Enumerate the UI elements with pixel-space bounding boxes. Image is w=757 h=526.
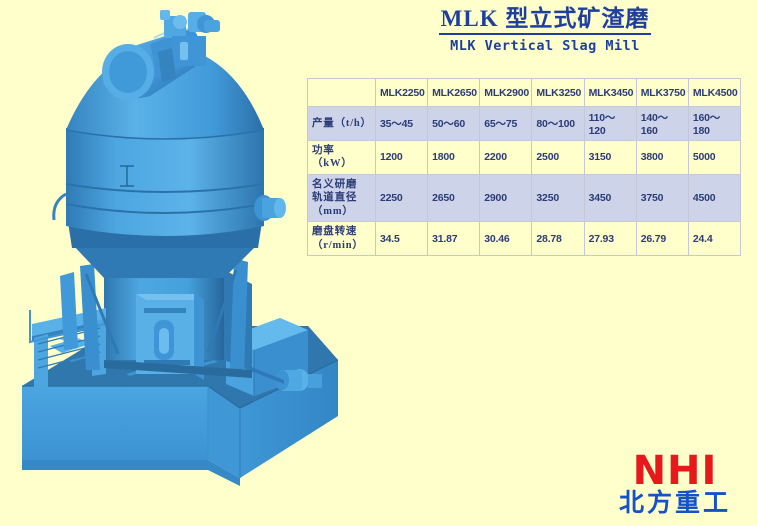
row-label-line1: 名义研磨 [312, 179, 357, 190]
capacity-mlk3450: 110～120 [584, 107, 636, 141]
table-corner-cell [308, 79, 376, 107]
model-header-mlk3250: MLK3250 [532, 79, 584, 107]
title-block: MLK 型立式矿渣磨 MLK Vertical Slag Mill [395, 6, 695, 54]
power-mlk2900: 2200 [480, 141, 532, 175]
capacity-mlk3750: 140～160 [636, 107, 688, 141]
table-row-grinding-track-diameter: 名义研磨 轨道直径 （mm） 2250 2650 2900 3250 3450 … [308, 174, 741, 221]
page-title-english: MLK Vertical Slag Mill [395, 38, 695, 54]
power-mlk3750: 3800 [636, 141, 688, 175]
logo-acronym: NHI [600, 452, 750, 490]
table-header-row: MLK2250 MLK2650 MLK2900 MLK3250 MLK3450 … [308, 79, 741, 107]
capacity-mlk2250: 35～45 [376, 107, 428, 141]
speed-mlk2900: 30.46 [480, 222, 532, 256]
diameter-mlk3450: 3450 [584, 174, 636, 221]
row-label-line2: 轨道直径 [312, 192, 357, 203]
row-label-power: 功率 （kW） [308, 141, 376, 175]
diameter-mlk2650: 2650 [428, 174, 480, 221]
speed-mlk4500: 24.4 [688, 222, 740, 256]
diameter-mlk3250: 3250 [532, 174, 584, 221]
speed-mlk3750: 26.79 [636, 222, 688, 256]
power-mlk3450: 3150 [584, 141, 636, 175]
model-header-mlk3750: MLK3750 [636, 79, 688, 107]
row-label-capacity: 产量（t/h） [308, 107, 376, 141]
power-mlk2650: 1800 [428, 141, 480, 175]
page-title-chinese: MLK 型立式矿渣磨 [439, 6, 652, 35]
table-row-power: 功率 （kW） 1200 1800 2200 2500 3150 3800 50… [308, 141, 741, 175]
row-label-grinding-track-diameter: 名义研磨 轨道直径 （mm） [308, 174, 376, 221]
capacity-mlk4500: 160～180 [688, 107, 740, 141]
capacity-mlk2650: 50～60 [428, 107, 480, 141]
diameter-mlk2250: 2250 [376, 174, 428, 221]
nhi-logo: NHI 北方重工 [600, 452, 750, 517]
row-label-line1: 磨盘转速 [312, 226, 357, 237]
table-row-table-speed: 磨盘转速 （r/min） 34.5 31.87 30.46 28.78 27.9… [308, 222, 741, 256]
model-header-mlk2650: MLK2650 [428, 79, 480, 107]
row-label-line2: （r/min） [312, 240, 364, 251]
power-mlk4500: 5000 [688, 141, 740, 175]
diameter-mlk2900: 2900 [480, 174, 532, 221]
diameter-mlk4500: 4500 [688, 174, 740, 221]
mill-3d-render-svg [8, 8, 338, 508]
diameter-mlk3750: 3750 [636, 174, 688, 221]
model-header-mlk2900: MLK2900 [480, 79, 532, 107]
model-header-mlk2250: MLK2250 [376, 79, 428, 107]
table-row-capacity: 产量（t/h） 35～45 50～60 65～75 80～100 110～120… [308, 107, 741, 141]
speed-mlk3250: 28.78 [532, 222, 584, 256]
row-label-table-speed: 磨盘转速 （r/min） [308, 222, 376, 256]
capacity-mlk2900: 65～75 [480, 107, 532, 141]
spec-table-container: MLK2250 MLK2650 MLK2900 MLK3250 MLK3450 … [307, 78, 741, 256]
model-header-mlk4500: MLK4500 [688, 79, 740, 107]
speed-mlk3450: 27.93 [584, 222, 636, 256]
logo-company-name-chinese: 北方重工 [600, 491, 750, 517]
specification-table: MLK2250 MLK2650 MLK2900 MLK3250 MLK3450 … [307, 78, 741, 256]
slide-canvas: MLK 型立式矿渣磨 MLK Vertical Slag Mill MLK225… [0, 0, 757, 526]
power-mlk2250: 1200 [376, 141, 428, 175]
capacity-mlk3250: 80～100 [532, 107, 584, 141]
row-label-line3: （mm） [312, 206, 354, 217]
speed-mlk2250: 34.5 [376, 222, 428, 256]
power-mlk3250: 2500 [532, 141, 584, 175]
speed-mlk2650: 31.87 [428, 222, 480, 256]
vertical-slag-mill-illustration [8, 8, 338, 508]
model-header-mlk3450: MLK3450 [584, 79, 636, 107]
